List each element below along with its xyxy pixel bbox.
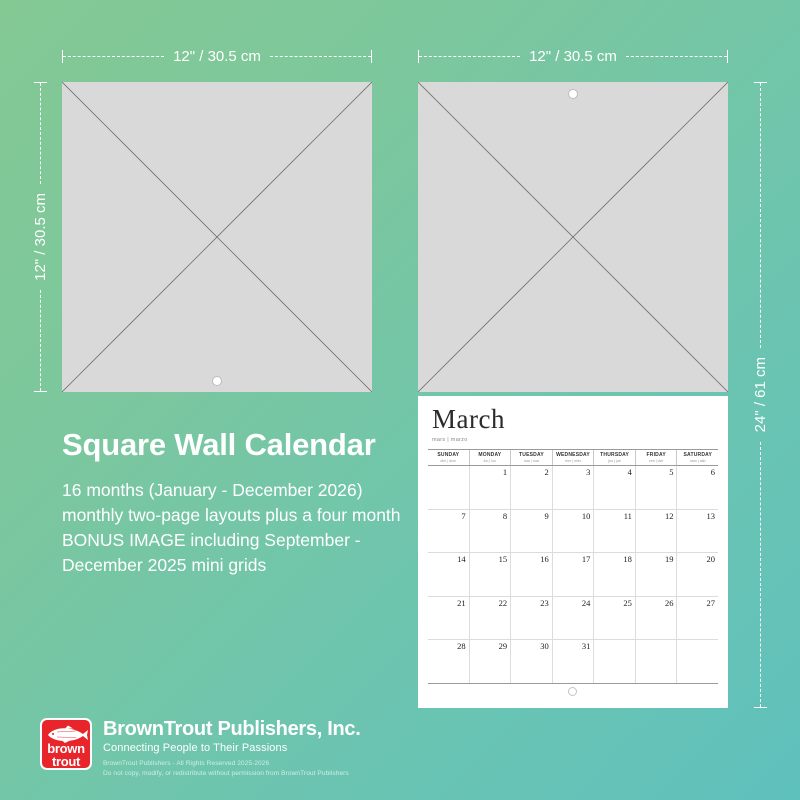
dimension-label-left-vertical: 12" / 30.5 cm (33, 184, 48, 290)
calendar-day-number: 7 (461, 511, 465, 521)
calendar-day-cell[interactable]: 7 (428, 510, 470, 553)
dimension-dash-top (760, 83, 761, 348)
calendar-day-cell[interactable]: 13 (677, 510, 718, 553)
calendar-day-number: 12 (665, 511, 674, 521)
day-header-alt: ven | vier (636, 459, 677, 463)
logo-word-trout: trout (42, 756, 90, 769)
calendar-day-cell[interactable]: 17 (553, 553, 595, 596)
calendar-day-cell[interactable]: 22 (470, 597, 512, 640)
calendar-day-cell-empty (428, 466, 470, 509)
day-header-name: WEDNESDAY (553, 452, 594, 458)
company-tagline: Connecting People to Their Passions (103, 741, 361, 755)
calendar-page: March mars | marzo SUNDAYdim | domMONDAY… (418, 396, 728, 708)
day-header-name: SUNDAY (428, 452, 469, 458)
legal-line-1: BrownTrout Publishers - All Rights Reser… (103, 759, 361, 768)
calendar-day-number: 16 (540, 554, 549, 564)
dimension-dash-right (626, 56, 727, 57)
calendar-day-number: 21 (457, 598, 466, 608)
calendar-day-number: 24 (582, 598, 591, 608)
calendar-day-number: 9 (544, 511, 548, 521)
calendar-day-number: 8 (503, 511, 507, 521)
calendar-day-header-tuesday: TUESDAYmar | mar (511, 450, 553, 465)
calendar-day-header-wednesday: WEDNESDAYmer | miér (553, 450, 595, 465)
dimension-top-right: 12" / 30.5 cm (418, 48, 728, 64)
calendar-day-cell[interactable]: 16 (511, 553, 553, 596)
calendar-day-cell[interactable]: 11 (594, 510, 636, 553)
calendar-day-number: 28 (457, 641, 466, 651)
legal-notice: BrownTrout Publishers - All Rights Reser… (103, 759, 361, 778)
calendar-day-cell[interactable]: 9 (511, 510, 553, 553)
footer: brown trout BrownTrout Publishers, Inc. … (40, 718, 361, 778)
calendar-day-number: 27 (707, 598, 716, 608)
calendar-day-header-row: SUNDAYdim | domMONDAYlun | lunTUESDAYmar… (428, 450, 718, 466)
hanging-hole (568, 89, 578, 99)
page-title: Square Wall Calendar (62, 428, 376, 462)
calendar-day-number: 4 (628, 467, 632, 477)
calendar-day-number: 6 (711, 467, 715, 477)
calendar-week-rows: 1234567891011121314151617181920212223242… (428, 466, 718, 684)
day-header-alt: sam | sáb (677, 459, 718, 463)
calendar-day-number: 18 (623, 554, 632, 564)
calendar-day-cell[interactable]: 5 (636, 466, 678, 509)
calendar-day-number: 5 (669, 467, 673, 477)
calendar-day-number: 3 (586, 467, 590, 477)
hanging-hole (212, 376, 222, 386)
calendar-day-cell[interactable]: 6 (677, 466, 718, 509)
day-header-alt: mar | mar (511, 459, 552, 463)
calendar-day-header-friday: FRIDAYven | vier (636, 450, 678, 465)
calendar-day-number: 19 (665, 554, 674, 564)
calendar-day-cell[interactable]: 20 (677, 553, 718, 596)
dimension-label-top-left: 12" / 30.5 cm (164, 49, 270, 64)
calendar-page-bottom (418, 684, 728, 708)
calendar-day-number: 25 (623, 598, 632, 608)
calendar-day-number: 13 (707, 511, 716, 521)
day-header-name: SATURDAY (677, 452, 718, 458)
footer-text-block: BrownTrout Publishers, Inc. Connecting P… (103, 718, 361, 778)
calendar-day-cell[interactable]: 28 (428, 640, 470, 683)
dimension-dash-bottom (760, 442, 761, 707)
calendar-day-cell[interactable]: 10 (553, 510, 595, 553)
calendar-day-cell[interactable]: 25 (594, 597, 636, 640)
left-image-placeholder-panel (62, 82, 372, 392)
calendar-day-cell[interactable]: 14 (428, 553, 470, 596)
dimension-cap-right (727, 50, 728, 63)
calendar-day-header-thursday: THURSDAYjeu | jue (594, 450, 636, 465)
calendar-day-cell[interactable]: 21 (428, 597, 470, 640)
calendar-day-number: 15 (499, 554, 508, 564)
calendar-day-cell[interactable]: 4 (594, 466, 636, 509)
day-header-alt: mer | miér (553, 459, 594, 463)
calendar-day-cell[interactable]: 29 (470, 640, 512, 683)
calendar-day-number: 14 (457, 554, 466, 564)
company-name: BrownTrout Publishers, Inc. (103, 719, 361, 740)
calendar-day-cell[interactable]: 3 (553, 466, 595, 509)
dimension-dash-left (63, 56, 164, 57)
calendar-day-cell[interactable]: 15 (470, 553, 512, 596)
calendar-day-cell[interactable]: 30 (511, 640, 553, 683)
calendar-month-title: March (432, 406, 728, 433)
calendar-day-cell[interactable]: 12 (636, 510, 678, 553)
calendar-day-number: 20 (707, 554, 716, 564)
calendar-day-number: 26 (665, 598, 674, 608)
calendar-day-number: 29 (499, 641, 508, 651)
day-header-alt: lun | lun (470, 459, 511, 463)
calendar-day-number: 1 (503, 467, 507, 477)
calendar-day-cell[interactable]: 27 (677, 597, 718, 640)
calendar-week-row: 21222324252627 (428, 597, 718, 641)
calendar-day-number: 23 (540, 598, 549, 608)
calendar-day-cell[interactable]: 23 (511, 597, 553, 640)
day-header-name: FRIDAY (636, 452, 677, 458)
calendar-day-number: 31 (582, 641, 591, 651)
logo-wordmark: brown trout (42, 743, 90, 769)
calendar-week-row: 28293031 (428, 640, 718, 684)
calendar-week-row: 123456 (428, 466, 718, 510)
calendar-day-header-sunday: SUNDAYdim | dom (428, 450, 470, 465)
calendar-grid: SUNDAYdim | domMONDAYlun | lunTUESDAYmar… (428, 449, 718, 684)
placeholder-cross-icon (418, 82, 728, 392)
calendar-day-number: 30 (540, 641, 549, 651)
day-header-alt: dim | dom (428, 459, 469, 463)
browntrout-logo: brown trout (40, 718, 92, 770)
calendar-day-number: 10 (582, 511, 591, 521)
calendar-header: March mars | marzo (418, 396, 728, 445)
day-header-alt: jeu | jue (594, 459, 635, 463)
dimension-left-vertical: 12" / 30.5 cm (32, 82, 48, 392)
calendar-day-cell[interactable]: 24 (553, 597, 595, 640)
calendar-day-cell[interactable]: 1 (470, 466, 512, 509)
calendar-week-row: 78910111213 (428, 510, 718, 554)
calendar-day-cell-empty (677, 640, 718, 683)
dimension-dash-left (419, 56, 520, 57)
dimension-cap-bottom (34, 391, 47, 392)
calendar-day-number: 17 (582, 554, 591, 564)
dimension-label-right-vertical: 24" / 61 cm (753, 348, 768, 441)
right-image-placeholder-panel (418, 82, 728, 392)
calendar-day-cell[interactable]: 31 (553, 640, 595, 683)
dimension-dash-top (40, 83, 41, 184)
day-header-name: THURSDAY (594, 452, 635, 458)
dimension-right-vertical: 24" / 61 cm (752, 82, 768, 708)
day-header-name: TUESDAY (511, 452, 552, 458)
product-description: 16 months (January - December 2026) mont… (62, 478, 407, 577)
calendar-day-cell[interactable]: 19 (636, 553, 678, 596)
calendar-day-cell-empty (594, 640, 636, 683)
calendar-day-number: 11 (624, 511, 632, 521)
calendar-day-cell[interactable]: 8 (470, 510, 512, 553)
calendar-day-cell[interactable]: 2 (511, 466, 553, 509)
placeholder-cross-icon (62, 82, 372, 392)
dimension-cap-bottom (754, 707, 767, 708)
dimension-label-top-right: 12" / 30.5 cm (520, 49, 626, 64)
legal-line-2: Do not copy, modify, or redistribute wit… (103, 769, 361, 778)
calendar-day-cell-empty (636, 640, 678, 683)
dimension-cap-right (371, 50, 372, 63)
calendar-week-row: 14151617181920 (428, 553, 718, 597)
calendar-day-cell[interactable]: 18 (594, 553, 636, 596)
calendar-day-cell[interactable]: 26 (636, 597, 678, 640)
calendar-month-subtitle: mars | marzo (432, 437, 728, 443)
calendar-day-number: 22 (499, 598, 508, 608)
calendar-day-number: 2 (544, 467, 548, 477)
hanging-hole (568, 687, 577, 696)
dimension-dash-right (270, 56, 371, 57)
calendar-day-header-monday: MONDAYlun | lun (470, 450, 512, 465)
dimension-top-left: 12" / 30.5 cm (62, 48, 372, 64)
dimension-dash-bottom (40, 290, 41, 391)
calendar-day-header-saturday: SATURDAYsam | sáb (677, 450, 718, 465)
day-header-name: MONDAY (470, 452, 511, 458)
